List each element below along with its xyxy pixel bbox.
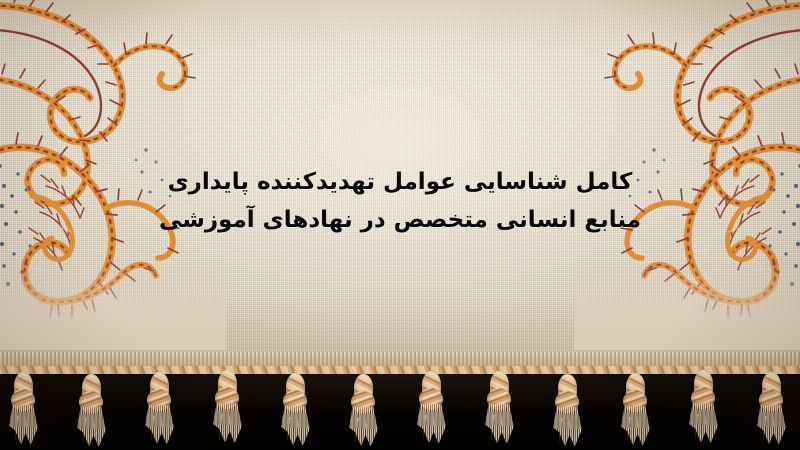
title-line-1: کامل شناسایی عوامل تهدیدکننده پایداری: [0, 163, 800, 201]
tassel-skirt: [211, 403, 243, 443]
tassel-skirt: [347, 407, 379, 447]
tassel-fringe: [0, 372, 800, 450]
tassel: [210, 370, 244, 448]
tassel: [346, 374, 380, 450]
tassel-skirt: [7, 405, 39, 445]
tassel: [482, 371, 516, 449]
slide-title: کامل شناسایی عوامل تهدیدکننده پایداری من…: [0, 163, 800, 239]
tassel-skirt: [415, 404, 447, 444]
tassel-skirt: [143, 405, 175, 445]
tassel-skirt: [279, 406, 311, 446]
slide-canvas: کامل شناسایی عوامل تهدیدکننده پایداری من…: [0, 0, 800, 450]
tassel-skirt: [755, 405, 787, 445]
tassel: [414, 371, 448, 449]
tassel: [618, 373, 652, 450]
tassel-skirt: [75, 407, 107, 447]
tassel-skirt: [619, 406, 651, 446]
tassel-skirt: [551, 407, 583, 447]
tassel: [278, 373, 312, 450]
tassel: [74, 374, 108, 450]
tassel: [6, 372, 40, 450]
tassel: [550, 374, 584, 450]
tassel-skirt: [483, 404, 515, 444]
tassel-skirt: [687, 403, 719, 443]
title-line-2: منابع انسانی متخصص در نهادهای آموزشی: [0, 201, 800, 239]
tassel: [754, 372, 788, 450]
tassel: [142, 372, 176, 450]
tassel: [686, 370, 720, 448]
